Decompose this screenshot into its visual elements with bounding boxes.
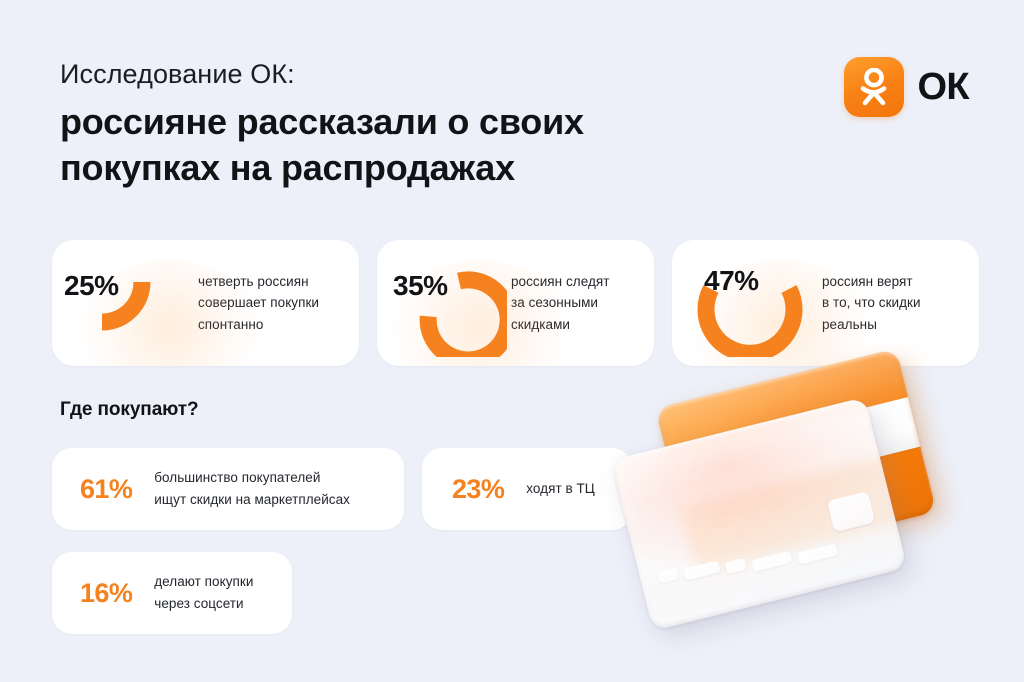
donut-chart-35: 35% bbox=[387, 249, 507, 357]
stat-label-line: четверть россиян bbox=[198, 271, 319, 292]
stat-label-47: россиян верят в то, что скидки реальны bbox=[822, 271, 921, 335]
stat-card-35: 35% россиян следят за сезонными скидками bbox=[377, 240, 654, 366]
brand-logo: ОК bbox=[844, 57, 969, 117]
where-label-line: через соцсети bbox=[154, 593, 253, 615]
headline-line-2: покупках на распродажах bbox=[60, 145, 780, 191]
stat-label-line: россиян верят bbox=[822, 271, 921, 292]
page-title: россияне рассказали о своих покупках на … bbox=[60, 99, 780, 191]
stat-card-25: 25% четверть россиян совершает покупки с… bbox=[52, 240, 359, 366]
donut-chart-47: 47% bbox=[688, 249, 820, 357]
where-card-61: 61% большинство покупателей ищут скидки … bbox=[52, 448, 404, 530]
where-label-23: ходят в ТЦ bbox=[526, 478, 595, 500]
stat-card-row: 25% четверть россиян совершает покупки с… bbox=[52, 240, 979, 366]
where-label-61: большинство покупателей ищут скидки на м… bbox=[154, 467, 350, 510]
stat-card-47: 47% россиян верят в то, что скидки реаль… bbox=[672, 240, 979, 366]
infographic-root: Исследование ОК: россияне рассказали о с… bbox=[0, 0, 1024, 682]
eyebrow-text: Исследование ОК: bbox=[60, 58, 780, 90]
header: Исследование ОК: россияне рассказали о с… bbox=[60, 58, 780, 192]
stat-label-line: скидками bbox=[511, 314, 609, 335]
where-label-16: делают покупки через соцсети bbox=[154, 571, 253, 614]
stat-label-25: четверть россиян совершает покупки спонт… bbox=[198, 271, 319, 335]
stat-label-line: реальны bbox=[822, 314, 921, 335]
where-value-16: 16% bbox=[80, 578, 132, 609]
stat-label-line: совершает покупки bbox=[198, 292, 319, 313]
ok-odnoklassniki-logo-icon bbox=[844, 57, 904, 117]
section-title: Где покупают? bbox=[60, 399, 199, 421]
where-value-61: 61% bbox=[80, 474, 132, 505]
stat-label-line: в то, что скидки bbox=[822, 292, 921, 313]
stat-value-35: 35% bbox=[393, 270, 448, 302]
stat-label-line: за сезонными bbox=[511, 292, 609, 313]
where-card-23: 23% ходят в ТЦ bbox=[422, 448, 632, 530]
where-label-line: ходят в ТЦ bbox=[526, 478, 595, 500]
stat-label-line: россиян следят bbox=[511, 271, 609, 292]
where-card-16: 16% делают покупки через соцсети bbox=[52, 552, 292, 634]
where-label-line: большинство покупателей bbox=[154, 467, 350, 489]
credit-cards-illustration bbox=[620, 368, 1024, 668]
stat-value-47: 47% bbox=[704, 265, 759, 297]
where-label-line: ищут скидки на маркетплейсах bbox=[154, 489, 350, 511]
logo-text: ОК bbox=[917, 66, 969, 109]
where-value-23: 23% bbox=[452, 474, 504, 505]
where-label-line: делают покупки bbox=[154, 571, 253, 593]
donut-chart-25: 25% bbox=[66, 248, 196, 358]
stat-label-35: россиян следят за сезонными скидками bbox=[511, 271, 609, 335]
stat-value-25: 25% bbox=[64, 270, 119, 302]
card-edge bbox=[611, 397, 908, 631]
stat-label-line: спонтанно bbox=[198, 314, 319, 335]
headline-line-1: россияне рассказали о своих bbox=[60, 101, 584, 142]
credit-card-front-white bbox=[611, 397, 908, 631]
